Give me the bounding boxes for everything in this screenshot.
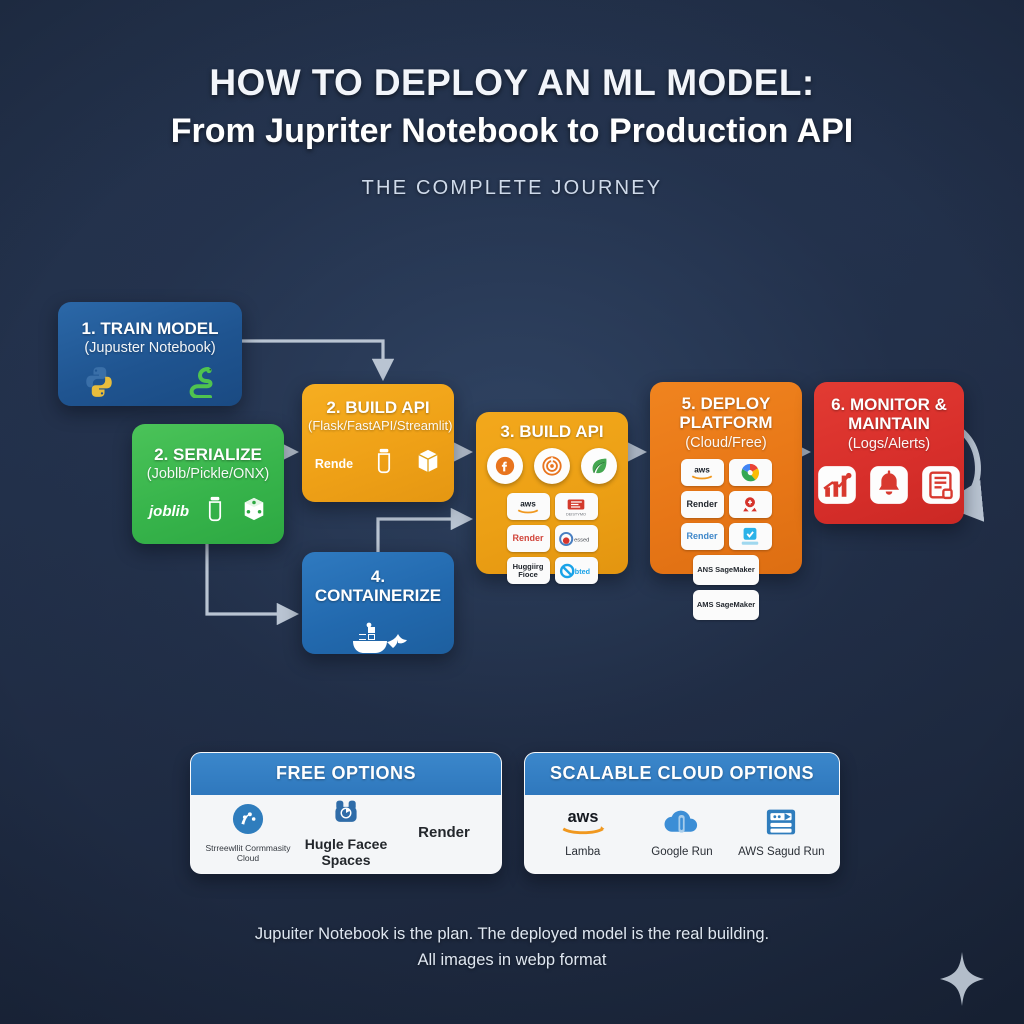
panel-item-label: Strreewllit Cormmasity Cloud [199, 844, 296, 863]
page-title-line1: HOW TO DEPLOY AN ML MODEL: [0, 62, 1024, 103]
footer: Jupuiter Notebook is the plan. The deplo… [0, 922, 1024, 973]
python-logo-icon [82, 365, 116, 404]
svg-text:essed: essed [574, 537, 589, 543]
logo-tile[interactable]: aws [681, 459, 724, 486]
node-build-api[interactable]: 2. BUILD API (Flask/FastAPI/Streamlit) R… [302, 384, 454, 502]
logo-tile[interactable]: Huggiirg Fioce [507, 557, 550, 584]
svg-text:aws: aws [567, 808, 598, 826]
node-deploy-platform[interactable]: 5. DEPLOY PLATFORM (Cloud/Free) aws Rend… [650, 382, 802, 574]
streamlit-circle-icon [232, 803, 264, 840]
pickle-jar-icon [371, 448, 397, 479]
header: HOW TO DEPLOY AN ML MODEL: From Jupriter… [0, 62, 1024, 200]
logo-tile[interactable]: ANS SageMaker [693, 555, 759, 585]
render-text-icon: Render [418, 825, 470, 842]
footer-line-1: Jupuiter Notebook is the plan. The deplo… [0, 922, 1024, 948]
node-subtitle: (Cloud/Free) [656, 435, 796, 452]
infographic-canvas: HOW TO DEPLOY AN ML MODEL: From Jupriter… [0, 0, 1024, 1024]
panel-item[interactable]: Strreewllit Cormmasity Cloud [199, 803, 296, 863]
tile-label: ANS SageMaker [697, 566, 755, 574]
streamlit-leaf-icon [581, 448, 617, 484]
node-build-api-2[interactable]: 3. BUILD API [476, 412, 628, 574]
panel-item-label: AWS Sagud Run [738, 846, 825, 859]
fastapi-target-icon [534, 448, 570, 484]
panel-scalable-cloud-options: SCALABLE CLOUD OPTIONS aws Lamba [524, 752, 840, 874]
connector-containerize-to-buildapi2 [378, 519, 468, 552]
render-wordmark-icon: Rende [315, 457, 353, 471]
onnx-box-icon [241, 496, 267, 527]
package-box-icon [415, 448, 441, 479]
logo-tile[interactable]: Render [681, 491, 724, 518]
logo-tile[interactable]: Render [681, 523, 724, 550]
node-title: 5. DEPLOY PLATFORM [656, 394, 796, 433]
logo-tile[interactable]: aws [507, 493, 550, 520]
panel-header: SCALABLE CLOUD OPTIONS [525, 753, 839, 795]
connector-train-to-buildapi [242, 341, 383, 376]
svg-text:aws: aws [520, 500, 536, 509]
panel-item-label: Lamba [565, 846, 600, 859]
tile-label: AMS SageMaker [697, 601, 755, 609]
svg-text:DEISTYMO: DEISTYMO [566, 512, 586, 516]
sparkle-icon [938, 950, 986, 1008]
panel-free-options: FREE OPTIONS Strreewllit Cormmasity Clou… [190, 752, 502, 874]
logo-tile[interactable] [729, 523, 772, 550]
panel-item-label: Google Run [651, 846, 712, 859]
node-containerize[interactable]: 4. CONTAINERIZE [302, 552, 454, 654]
node-serialize[interactable]: 2. SERIALIZE (Joblb/Pickle/ONX) joblib [132, 424, 284, 544]
node-subtitle: (Joblb/Pickle/ONX) [140, 466, 276, 483]
log-document-icon [921, 465, 961, 510]
panel-item[interactable]: Render [395, 825, 492, 842]
node-train-model[interactable]: 1. TRAIN MODEL (Jupuster Notebook) [58, 302, 242, 406]
tile-label: Render [512, 534, 543, 543]
node-subtitle: (Flask/FastAPI/Streamlit) [308, 419, 448, 434]
connector-serialize-to-containerize [207, 544, 294, 614]
logo-tile-grid: aws DEISTYMO Render essed [482, 493, 622, 584]
node-title: 3. BUILD API [482, 422, 622, 441]
node-title: 2. BUILD API [308, 398, 448, 417]
joblib-wordmark-icon: joblib [149, 503, 189, 520]
footer-line-2: All images in webp format [0, 948, 1024, 974]
bell-icon [869, 465, 909, 510]
logo-tile[interactable]: essed [555, 525, 598, 552]
svg-text:aws: aws [694, 466, 710, 475]
tile-label: Render [686, 500, 717, 509]
node-subtitle: (Logs/Alerts) [820, 436, 958, 453]
panel-item[interactable]: AWS Sagud Run [732, 807, 830, 859]
node-title: 2. SERIALIZE [140, 445, 276, 464]
panel-header: FREE OPTIONS [191, 753, 501, 795]
logo-tile[interactable]: AMS SageMaker [693, 590, 759, 620]
huggingface-icon [331, 798, 361, 833]
node-subtitle: (Jupuster Notebook) [68, 340, 232, 357]
green-snake-icon [188, 366, 218, 403]
node-title: 6. MONITOR & MAINTAIN [820, 395, 958, 434]
panel-item[interactable]: Hugle Facee Spaces [297, 798, 394, 868]
docker-whale-icon [347, 620, 409, 665]
page-subtitle: THE COMPLETE JOURNEY [0, 177, 1024, 200]
aws-logo-icon: aws [553, 807, 613, 842]
panel-item-label: Hugle Facee Spaces [297, 837, 394, 868]
tile-label: Huggiirg Fioce [507, 563, 550, 579]
svg-text:bted: bted [575, 567, 590, 576]
node-title: 4. CONTAINERIZE [308, 567, 448, 606]
panel-item[interactable]: Google Run [633, 807, 731, 859]
chart-growth-icon [817, 465, 857, 510]
node-monitor-maintain[interactable]: 6. MONITOR & MAINTAIN (Logs/Alerts) [814, 382, 964, 524]
flask-f-icon [487, 448, 523, 484]
tile-label: Render [686, 532, 717, 541]
cloud-run-icon [660, 807, 704, 842]
logo-tile[interactable]: bted [555, 557, 598, 584]
server-rack-icon [763, 807, 799, 842]
panel-item[interactable]: aws Lamba [534, 807, 632, 859]
logo-tile[interactable] [729, 491, 772, 518]
logo-tile-grid: aws Render [656, 459, 796, 620]
node-title: 1. TRAIN MODEL [68, 319, 232, 338]
logo-tile[interactable] [729, 459, 772, 486]
pickle-jar-icon [202, 496, 228, 527]
logo-tile[interactable]: DEISTYMO [555, 493, 598, 520]
logo-tile[interactable]: Render [507, 525, 550, 552]
page-title-line2: From Jupriter Notebook to Production API [0, 112, 1024, 150]
